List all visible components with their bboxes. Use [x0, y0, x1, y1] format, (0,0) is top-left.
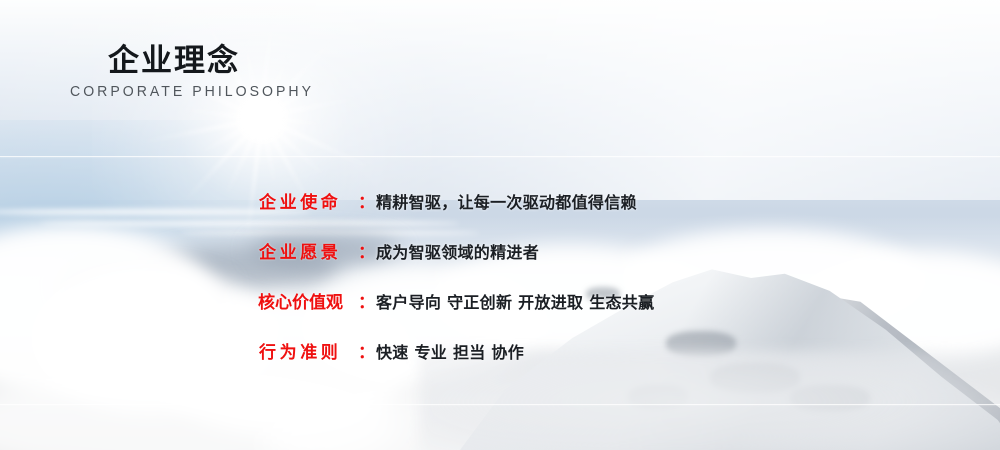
statement-label: 核心价值观: [258, 288, 358, 313]
statement-row: 企业愿景：成为智驱领域的精进者: [258, 238, 654, 288]
statement-colon: ：: [358, 338, 376, 363]
statement-colon: ：: [358, 238, 376, 263]
heading-block: 企业理念 CORPORATE PHILOSOPHY: [70, 44, 330, 100]
statement-label: 行为准则: [258, 338, 358, 363]
statement-row: 行为准则：快速 专业 担当 协作: [258, 338, 654, 388]
statement-value: 快速 专业 担当 协作: [376, 339, 524, 363]
divider-line-top: [0, 156, 1000, 157]
sun-core: [236, 92, 288, 144]
statement-row: 企业使命：精耕智驱，让每一次驱动都值得信赖: [258, 188, 654, 238]
statement-row: 核心价值观：客户导向 守正创新 开放进取 生态共赢: [258, 288, 654, 338]
statement-colon: ：: [358, 288, 376, 313]
corporate-philosophy-banner: 企业理念 CORPORATE PHILOSOPHY 企业使命：精耕智驱，让每一次…: [0, 0, 1000, 450]
statement-colon: ：: [358, 188, 376, 213]
divider-line-bottom: [0, 404, 1000, 405]
statement-label: 企业愿景: [258, 238, 358, 263]
statement-label: 企业使命: [258, 188, 358, 213]
statement-value: 精耕智驱，让每一次驱动都值得信赖: [376, 189, 637, 213]
statement-value: 客户导向 守正创新 开放进取 生态共赢: [376, 289, 654, 313]
page-subtitle: CORPORATE PHILOSOPHY: [70, 83, 314, 100]
page-title: 企业理念: [108, 44, 330, 79]
statement-value: 成为智驱领域的精进者: [376, 239, 539, 263]
statement-list: 企业使命：精耕智驱，让每一次驱动都值得信赖企业愿景：成为智驱领域的精进者核心价值…: [258, 188, 654, 388]
